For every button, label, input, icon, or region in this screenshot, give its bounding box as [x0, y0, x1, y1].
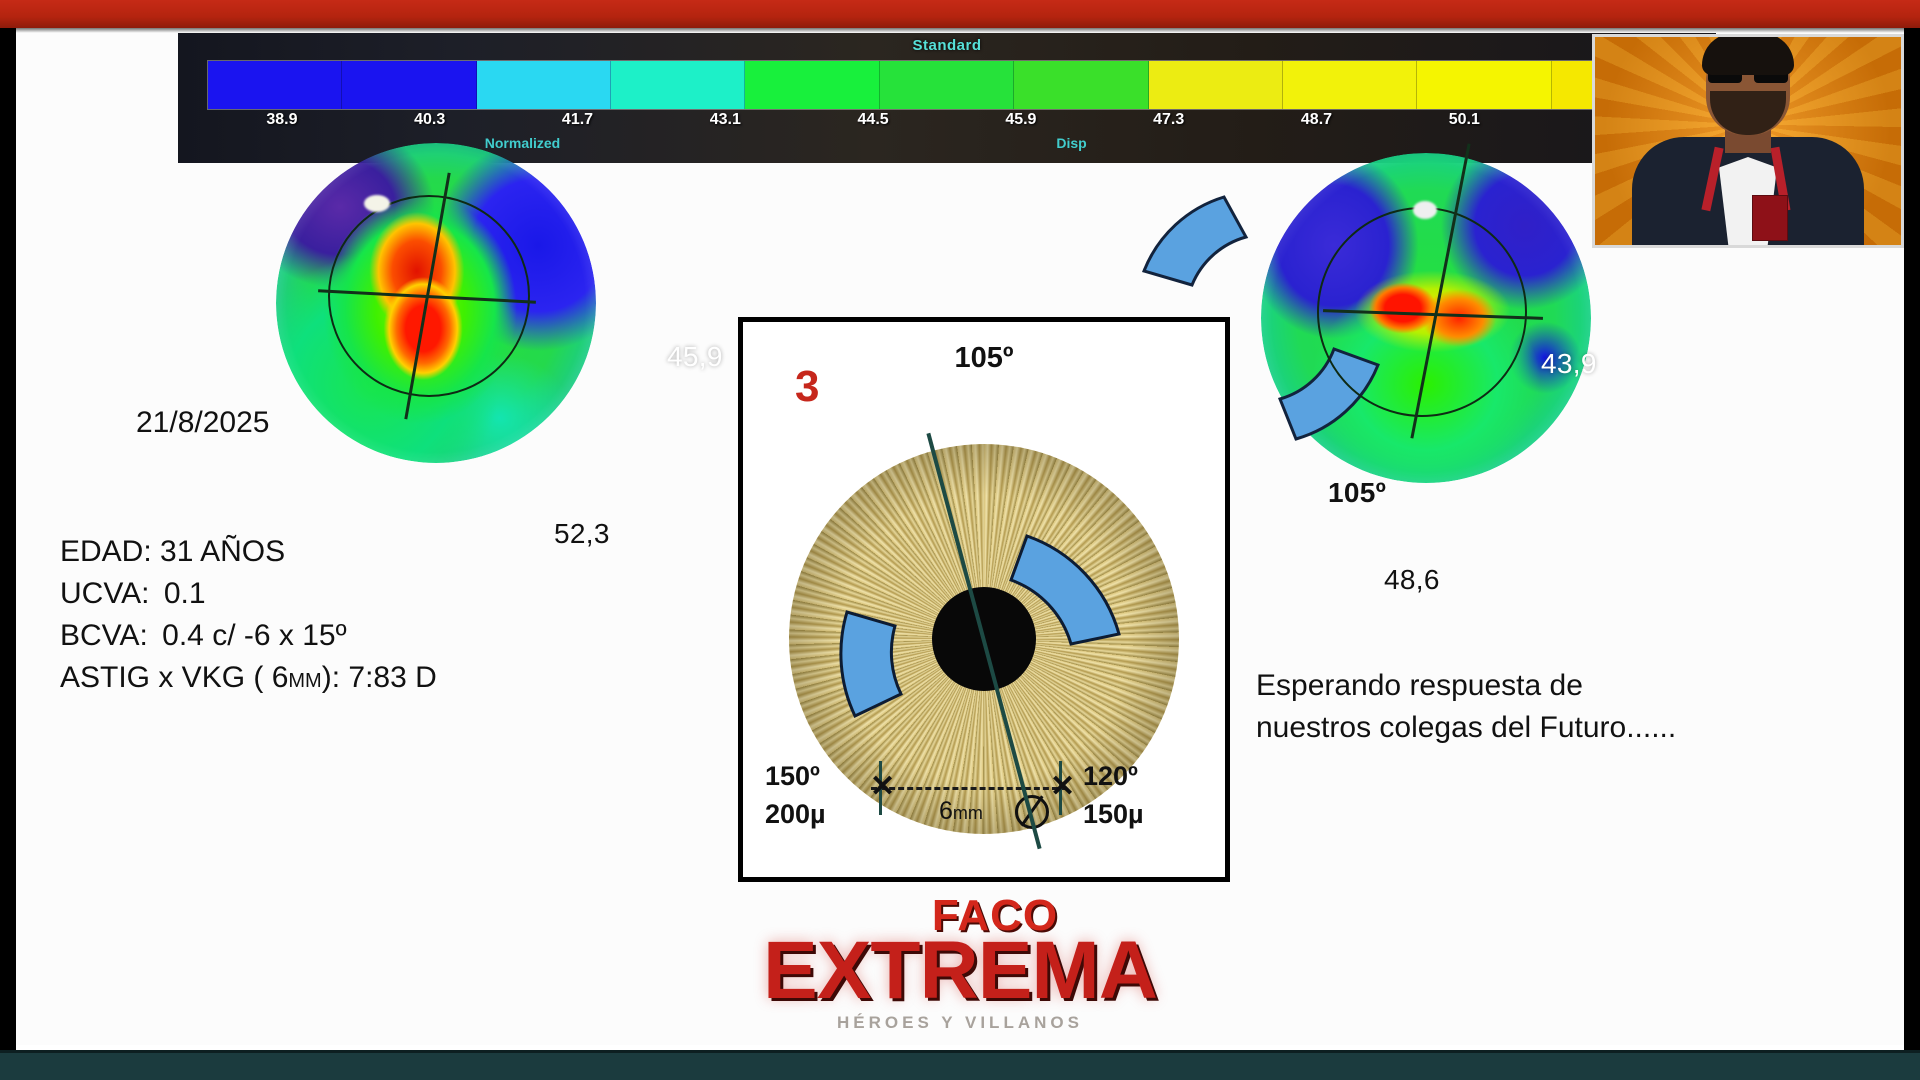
- logo-tagline: HÉROES Y VILLANOS: [750, 1014, 1170, 1031]
- postop-specular-highlight: [1413, 201, 1437, 219]
- logo-extrema-text: EXTREMA: [750, 930, 1170, 1012]
- plan-incision-arcs: [789, 444, 1179, 834]
- legend-tick-4: 44.5: [799, 111, 947, 137]
- bottom-status-bar: [0, 1050, 1920, 1080]
- astig-label: ASTIG x VKG ( 6: [60, 661, 288, 694]
- edad-label: EDAD:: [60, 535, 152, 568]
- legend-tick-5: 45.9: [947, 111, 1095, 137]
- preop-specular-highlight: [364, 195, 390, 212]
- legend-title: Standard: [178, 37, 1716, 54]
- legend-tick-1: 40.3: [356, 111, 504, 137]
- ucva-value: 0.1: [158, 577, 206, 610]
- presenter-beard: [1710, 91, 1786, 135]
- presenter-hair: [1702, 34, 1794, 75]
- waiting-note-line2: nuestros colegas del Futuro......: [1256, 707, 1676, 749]
- legend-color-band-4: [745, 61, 879, 109]
- topography-color-legend: Standard 38.940.341.743.144.545.947.348.…: [178, 33, 1716, 163]
- postop-topography-map: [1261, 153, 1591, 483]
- conference-badge: [1752, 195, 1788, 241]
- legend-color-band-3: [611, 61, 745, 109]
- legend-color-band-2: [477, 61, 611, 109]
- legend-color-band-5: [880, 61, 1014, 109]
- ucva-label: UCVA:: [60, 577, 149, 610]
- legend-disp-label: Disp: [687, 135, 1456, 151]
- preop-value-bottom: 52,3: [554, 518, 610, 550]
- legend-tick-6: 47.3: [1095, 111, 1243, 137]
- astig-value: ): 7:83 D: [322, 661, 437, 694]
- legend-tick-2: 41.7: [504, 111, 652, 137]
- top-red-banner: [0, 0, 1920, 28]
- clinical-line-edad: EDAD: 31 AÑOS: [60, 531, 437, 573]
- waiting-note-line1: Esperando respuesta de: [1256, 665, 1676, 707]
- legend-tick-0: 38.9: [208, 111, 356, 137]
- legend-color-strip: [208, 61, 1686, 109]
- bcva-label: BCVA:: [60, 619, 148, 652]
- postop-value-bottom: 48,6: [1384, 564, 1440, 596]
- presenter-figure: [1623, 77, 1873, 245]
- astig-unit: MM: [288, 670, 321, 692]
- legend-color-band-9: [1417, 61, 1551, 109]
- postop-value-top: 43,9: [1541, 348, 1597, 380]
- right-black-border: [1904, 28, 1920, 1080]
- preop-topography-map: [276, 143, 596, 463]
- clinical-data-block: EDAD: 31 AÑOS UCVA: 0.1 BCVA: 0.4 c/ -6 …: [60, 531, 437, 702]
- slide-stage: Standard 38.940.341.743.144.545.947.348.…: [0, 0, 1920, 1080]
- preop-value-top: 45,9: [667, 341, 723, 373]
- legend-tick-8: 50.1: [1390, 111, 1538, 137]
- edad-value: 31 AÑOS: [160, 535, 285, 568]
- clinical-line-bcva: BCVA: 0.4 c/ -6 x 15º: [60, 615, 437, 657]
- legend-color-band-8: [1283, 61, 1417, 109]
- presenter-webcam[interactable]: [1592, 34, 1904, 248]
- legend-color-band-1: [342, 61, 476, 109]
- legend-tick-3: 43.1: [651, 111, 799, 137]
- clinical-line-astig: ASTIG x VKG ( 6MM): 7:83 D: [60, 657, 437, 702]
- legend-tick-7: 48.7: [1243, 111, 1391, 137]
- legend-color-band-6: [1014, 61, 1148, 109]
- waiting-note: Esperando respuesta de nuestros colegas …: [1256, 665, 1676, 749]
- faco-extrema-logo: FACO EXTREMA HÉROES Y VILLANOS: [750, 894, 1170, 1031]
- legend-color-band-7: [1149, 61, 1283, 109]
- legend-tick-labels: 38.940.341.743.144.545.947.348.750.151.5: [208, 111, 1686, 137]
- bcva-value: 0.4 c/ -6 x 15º: [156, 619, 346, 652]
- clinical-line-ucva: UCVA: 0.1: [60, 573, 437, 615]
- legend-color-band-0: [208, 61, 342, 109]
- left-black-border: [0, 28, 16, 1080]
- exam-date: 21/8/2025: [136, 406, 269, 440]
